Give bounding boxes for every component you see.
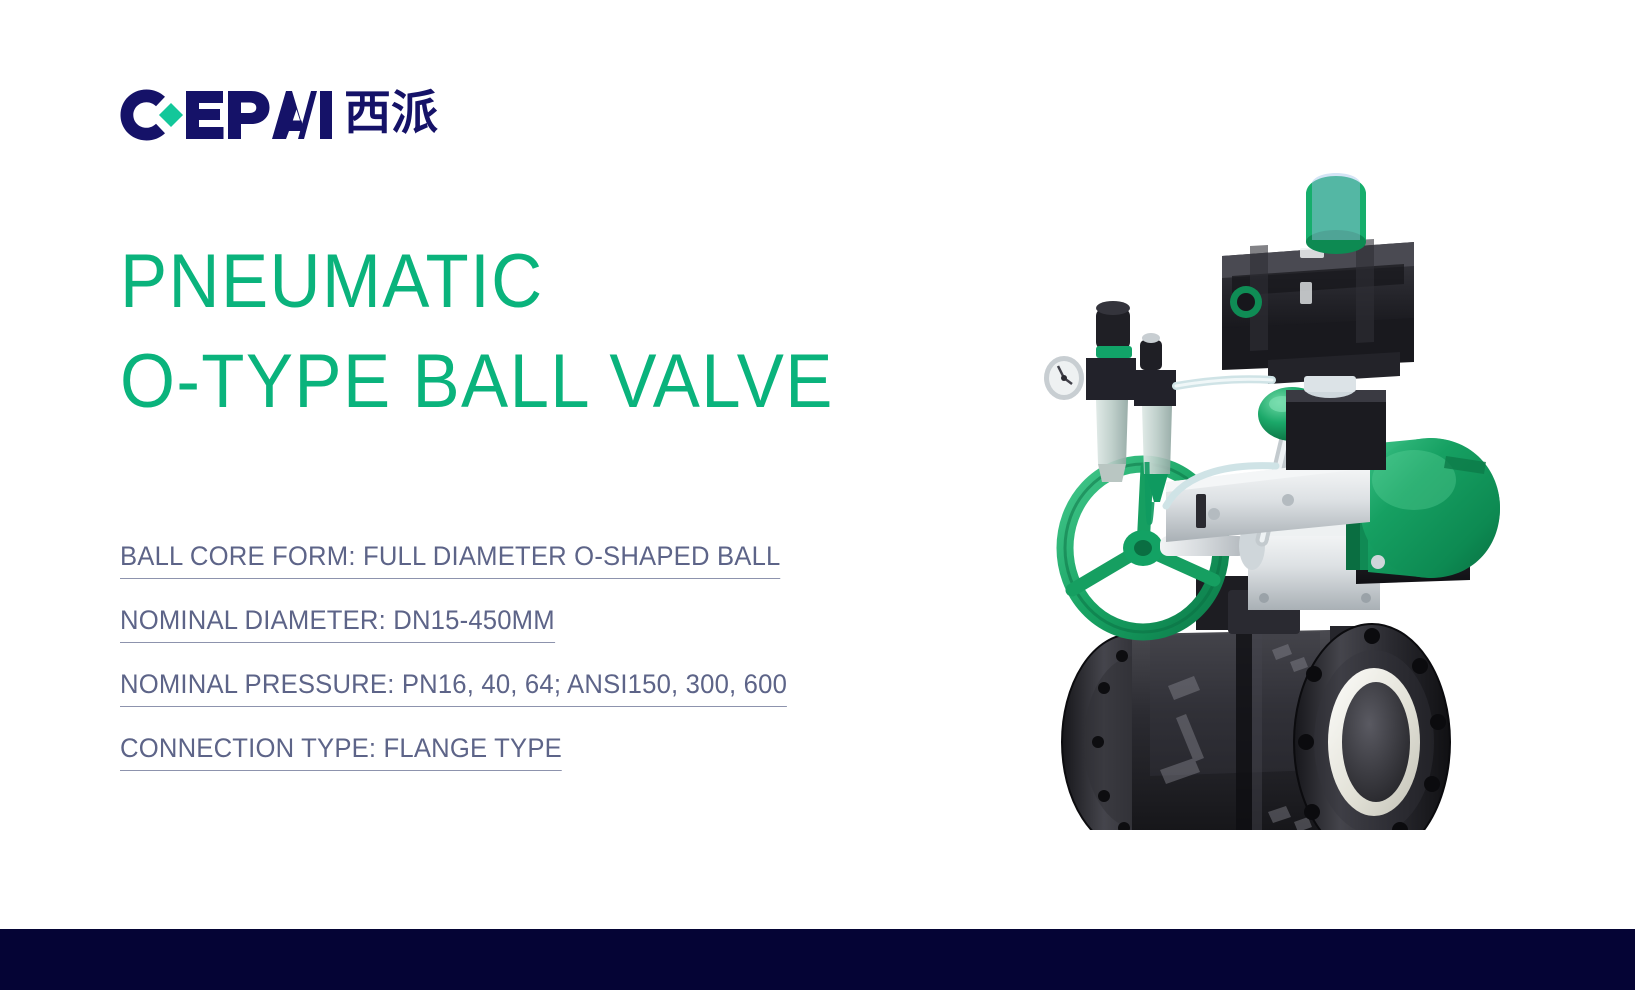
- footer-bar: [0, 929, 1635, 990]
- page-title: PNEUMATIC O-TYPE BALL VALVE: [120, 232, 960, 432]
- spec-ball-core-form-text: BALL CORE FORM: FULL DIAMETER O-SHAPED B…: [120, 541, 781, 579]
- spec-nominal-diameter: NOMINAL DIAMETER: DN15-450MM: [120, 588, 975, 652]
- product-image: [1000, 70, 1530, 830]
- limit-switch-box: [1222, 173, 1414, 470]
- slide-root: 西派 PNEUMATIC O-TYPE BALL VALVE BALL CORE…: [0, 0, 1635, 990]
- valve-assembly-illustration: [1000, 70, 1530, 830]
- title-line-2: O-TYPE BALL VALVE: [120, 332, 901, 432]
- brand-logo: 西派: [120, 86, 438, 144]
- valve-body: [1062, 624, 1450, 830]
- spec-nominal-pressure-text: NOMINAL PRESSURE: PN16, 40, 64; ANSI150,…: [120, 669, 787, 707]
- title-line-1: PNEUMATIC: [120, 232, 901, 332]
- green-indicator-cap: [1306, 173, 1366, 254]
- cepai-c-diamond-logo: [120, 89, 306, 141]
- specification-list: BALL CORE FORM: FULL DIAMETER O-SHAPED B…: [120, 524, 1020, 780]
- spec-connection-type: CONNECTION TYPE: FLANGE TYPE: [120, 716, 975, 780]
- pressure-gauge: [1044, 356, 1084, 400]
- spec-nominal-diameter-text: NOMINAL DIAMETER: DN15-450MM: [120, 605, 555, 643]
- cepai-a-i-letters: [298, 89, 332, 141]
- brand-logo-cn: 西派: [344, 90, 438, 137]
- spec-ball-core-form: BALL CORE FORM: FULL DIAMETER O-SHAPED B…: [120, 524, 975, 588]
- spec-nominal-pressure: NOMINAL PRESSURE: PN16, 40, 64; ANSI150,…: [120, 652, 975, 716]
- spec-connection-type-text: CONNECTION TYPE: FLANGE TYPE: [120, 733, 562, 771]
